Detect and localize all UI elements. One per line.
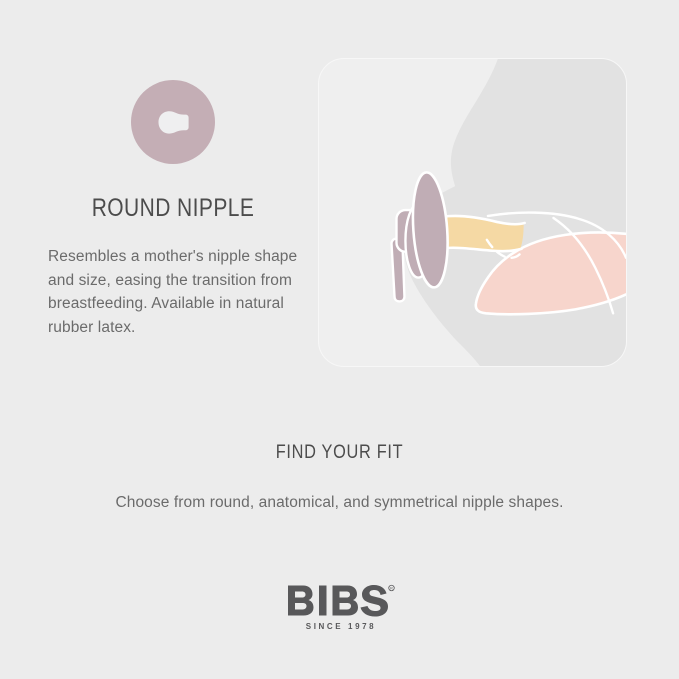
product-feature-page: ROUND NIPPLE Resembles a mother's nipple…: [0, 0, 679, 679]
feature-column: ROUND NIPPLE Resembles a mother's nipple…: [48, 80, 298, 340]
find-your-fit-section: FIND YOUR FIT Choose from round, anatomi…: [0, 442, 679, 512]
feature-icon-container: [48, 80, 298, 164]
find-your-fit-title: FIND YOUR FIT: [48, 442, 632, 464]
brand-logo: R SINCE 1978: [0, 583, 679, 631]
illustration-card: [318, 58, 627, 367]
baby-head-with-pacifier-illustration: [319, 59, 626, 366]
feature-title: ROUND NIPPLE: [68, 194, 278, 223]
logo-tagline: SINCE 1978: [303, 622, 376, 631]
bibs-wordmark-icon: R: [285, 583, 395, 617]
round-nipple-shape-icon: [131, 80, 215, 164]
svg-text:R: R: [390, 587, 393, 591]
feature-description: Resembles a mother's nipple shape and si…: [48, 245, 298, 340]
find-your-fit-subtitle: Choose from round, anatomical, and symme…: [0, 494, 679, 512]
